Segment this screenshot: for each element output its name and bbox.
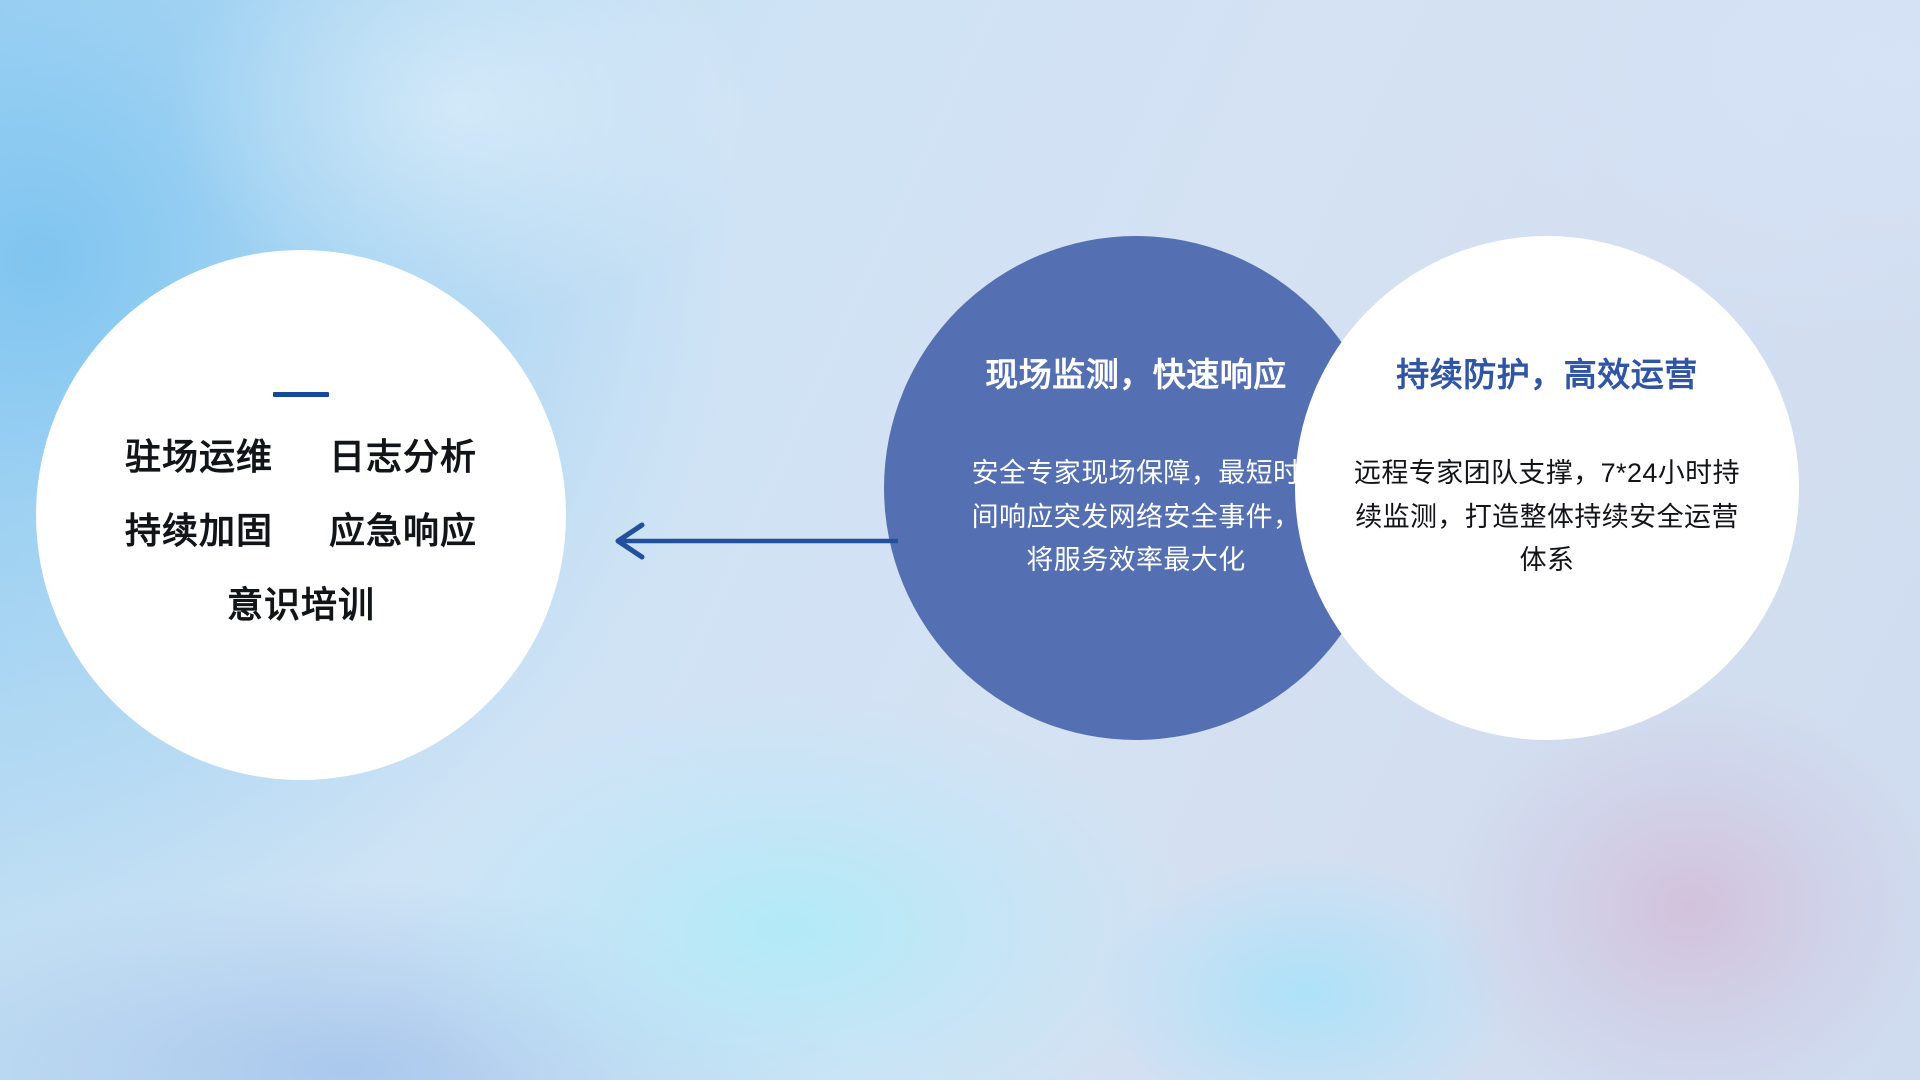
service-tag: 应急响应 xyxy=(329,510,477,551)
left-circle-row: 意识培训 xyxy=(36,587,566,623)
left-service-circle[interactable]: 驻场运维 日志分析 持续加固 应急响应 意识培训 xyxy=(36,250,566,780)
right-operations-circle[interactable]: 持续防护，高效运营 远程专家团队支撑，7*24小时持续监测，打造整体持续安全运营… xyxy=(1295,236,1799,740)
left-circle-row: 驻场运维 日志分析 xyxy=(36,439,566,475)
service-tag: 意识培训 xyxy=(227,584,375,625)
right-circle-content: 持续防护，高效运营 远程专家团队支撑，7*24小时持续监测，打造整体持续安全运营… xyxy=(1295,356,1799,583)
right-circle-body: 远程专家团队支撑，7*24小时持续监测，打造整体持续安全运营体系 xyxy=(1347,452,1747,583)
flow-arrow-left-icon xyxy=(600,514,900,568)
left-circle-content: 驻场运维 日志分析 持续加固 应急响应 意识培训 xyxy=(36,392,566,623)
service-tag: 持续加固 xyxy=(125,510,273,551)
service-tag: 日志分析 xyxy=(329,436,477,477)
divider-dash-icon xyxy=(273,392,329,397)
service-tag: 驻场运维 xyxy=(125,436,273,477)
slide-canvas: 驻场运维 日志分析 持续加固 应急响应 意识培训 现场监测，快速响应 安全专家现… xyxy=(0,0,1920,1080)
middle-circle-body: 安全专家现场保障，最短时间响应突发网络安全事件，将服务效率最大化 xyxy=(960,452,1312,583)
left-circle-row: 持续加固 应急响应 xyxy=(36,513,566,549)
right-circle-title: 持续防护，高效运营 xyxy=(1319,356,1775,394)
